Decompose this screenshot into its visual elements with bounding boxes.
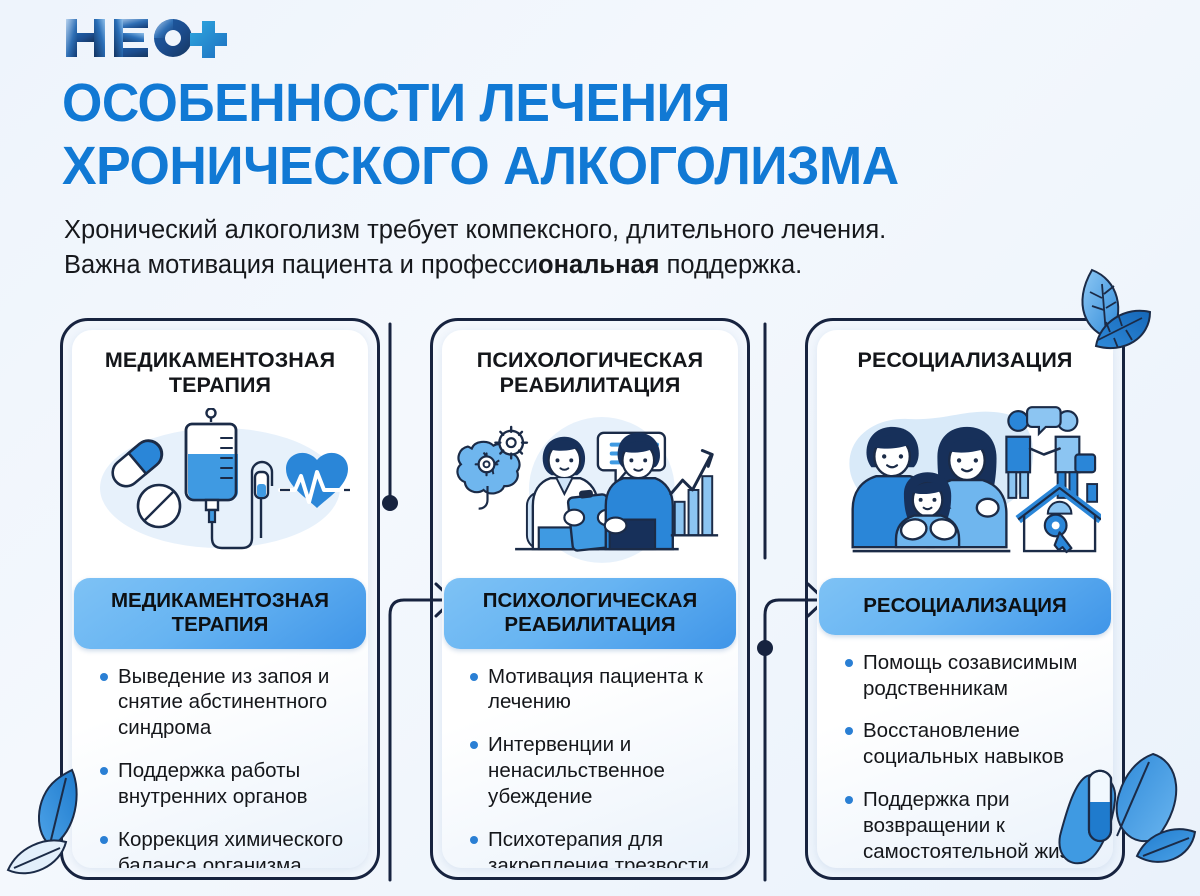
card-3-illustration [829,404,1101,572]
brain-gears-icon [457,427,526,509]
subtitle-line-2-bold: ональная [538,251,660,279]
card-2-bullets: Мотивация пациента к лечению Интервенции… [454,664,726,868]
list-item: Интервенции и ненасильственное убеждение [468,732,720,809]
handshake-icon [1006,407,1095,498]
tablet-icon [138,485,180,527]
page-subtitle: Хронический алкоголизм требует компексно… [64,213,1124,283]
subtitle-line-2-pre: Важна мотивация пациента и професси [64,251,538,279]
list-item: Поддержка при возвращении к самостоятель… [843,787,1095,864]
list-item: Выведение из запоя и снятие абстинентног… [98,664,350,741]
list-item: Помощь созависимым родственникам [843,650,1095,702]
page-title-line-1: ОСОБЕННОСТИ ЛЕЧЕНИЯ [62,73,730,133]
card-medikamentoznaya-terapiya[interactable]: МЕДИКАМЕНТОЗНАЯ ТЕРАПИЯ [60,318,380,880]
card-resocializaciya[interactable]: РЕСОЦИАЛИЗАЦИЯ [805,318,1125,880]
card-3-bullets: Помощь созависимым родственникам Восстан… [829,650,1101,868]
card-2-illustration [454,404,726,572]
list-item: Восстановление социальных навыков [843,718,1095,770]
card-psihologicheskaya-reabilitaciya[interactable]: ПСИХОЛОГИЧЕСКАЯ РЕАБИЛИТАЦИЯ [430,318,750,880]
brand-logo[interactable]: НЕО+ [64,14,234,62]
card-1-illustration [84,404,356,572]
neo-plus-logo-icon [64,15,234,61]
card-1-title: МЕДИКАМЕНТОЗНАЯ ТЕРАПИЯ [84,348,356,400]
card-3-pill[interactable]: РЕСОЦИАЛИЗАЦИЯ [819,578,1111,635]
subtitle-line-1: Хронический алкоголизм требует компексно… [64,213,1124,248]
growth-chart-icon [671,451,718,536]
card-2-pill[interactable]: ПСИХОЛОГИЧЕСКАЯ РЕАБИЛИТАЦИЯ [444,578,736,649]
card-2-title: ПСИХОЛОГИЧЕСКАЯ РЕАБИЛИТАЦИЯ [454,348,726,400]
list-item: Психотерапия для закрепления трезвости [468,827,720,868]
card-1-bullets: Выведение из запоя и снятие абстинентног… [84,664,356,868]
card-3-title: РЕСОЦИАЛИЗАЦИЯ [858,348,1073,400]
page-title: ОСОБЕННОСТИ ЛЕЧЕНИЯ ХРОНИЧЕСКОГО АЛКОГОЛ… [62,72,1099,198]
subtitle-line-2: Важна мотивация пациента и профессиональ… [64,248,1124,283]
treatment-cards: МЕДИКАМЕНТОЗНАЯ ТЕРАПИЯ [0,318,1200,880]
subtitle-line-2-post: поддержка. [660,251,803,279]
list-item: Коррекция химического баланса организма [98,827,350,868]
list-item: Мотивация пациента к лечению [468,664,720,716]
list-item: Поддержка работы внутренних органов [98,758,350,810]
page-title-line-2: ХРОНИЧЕСКОГО АЛКОГОЛИЗМА [62,135,1099,198]
card-1-pill[interactable]: МЕДИКАМЕНТОЗНАЯ ТЕРАПИЯ [74,578,366,649]
